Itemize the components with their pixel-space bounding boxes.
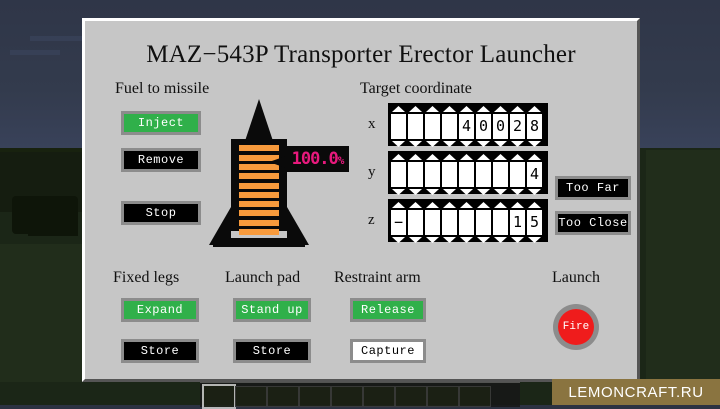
pad-store-button[interactable]: Store	[233, 339, 311, 363]
fuel-percent-symbol: %	[338, 154, 344, 167]
chevron-up-icon[interactable]	[392, 202, 405, 208]
chevron-down-icon[interactable]	[426, 189, 439, 195]
hotbar-slot[interactable]	[427, 386, 459, 407]
chevron-up-icon[interactable]	[511, 154, 524, 160]
chevron-down-icon[interactable]	[528, 141, 541, 147]
coord-digit-column: 0	[476, 106, 491, 147]
coord-digit-box[interactable]	[459, 162, 474, 187]
coord-axis-label-z: z	[368, 212, 375, 229]
coord-digit-box[interactable]	[425, 114, 440, 139]
fuel-segment	[239, 173, 279, 179]
fuel-segment	[239, 183, 279, 189]
restraint-arm-section-label: Restraint arm	[334, 269, 421, 287]
terrain-patch	[28, 222, 78, 236]
coord-digit-column	[442, 202, 457, 243]
chevron-down-icon[interactable]	[409, 189, 422, 195]
coord-row-z: −15	[388, 199, 548, 242]
coord-digit-column: 4	[459, 106, 474, 147]
chevron-up-icon[interactable]	[426, 106, 439, 112]
coord-digit-column	[425, 106, 440, 147]
coord-digit-box[interactable]	[459, 210, 474, 235]
chevron-down-icon[interactable]	[477, 189, 490, 195]
site-watermark: LEMONCRAFT.RU	[552, 379, 720, 405]
coord-digit-column	[476, 154, 491, 195]
hotbar-slot[interactable]	[363, 386, 395, 407]
chevron-up-icon[interactable]	[409, 202, 422, 208]
missile-nose	[245, 99, 273, 141]
hotbar-slot[interactable]	[202, 384, 236, 409]
chevron-up-icon[interactable]	[477, 154, 490, 160]
chevron-down-icon[interactable]	[443, 189, 456, 195]
chevron-down-icon[interactable]	[426, 141, 439, 147]
coord-digit-column: 8	[527, 106, 542, 147]
chevron-up-icon[interactable]	[511, 202, 524, 208]
coord-digit-column: 5	[527, 202, 542, 243]
chevron-down-icon[interactable]	[528, 237, 541, 243]
fuel-segment	[239, 220, 279, 226]
coord-row-y: 4	[388, 151, 548, 194]
coord-digit-box[interactable]	[476, 162, 491, 187]
chevron-down-icon[interactable]	[460, 237, 473, 243]
hotbar-slot[interactable]	[235, 386, 267, 407]
coord-digit-column	[408, 154, 423, 195]
chevron-up-icon[interactable]	[392, 106, 405, 112]
chevron-up-icon[interactable]	[443, 154, 456, 160]
chevron-down-icon[interactable]	[494, 141, 507, 147]
chevron-down-icon[interactable]	[494, 189, 507, 195]
coord-digit-box[interactable]	[476, 210, 491, 235]
legs-expand-button[interactable]: Expand	[121, 298, 199, 322]
coord-digit-column: 1	[510, 202, 525, 243]
target-section-label: Target coordinate	[360, 80, 472, 98]
chevron-up-icon[interactable]	[460, 202, 473, 208]
coord-digit-box[interactable]: 1	[510, 210, 525, 235]
coord-digit-box[interactable]	[493, 162, 508, 187]
coord-digit-box[interactable]	[493, 210, 508, 235]
launch-pad-section-label: Launch pad	[225, 269, 300, 287]
coord-axis-label-y: y	[368, 164, 376, 181]
coord-digit-box[interactable]: 4	[527, 162, 542, 187]
coord-digit-box[interactable]: 5	[527, 210, 542, 235]
fuel-section-label: Fuel to missile	[115, 80, 209, 98]
chevron-down-icon[interactable]	[426, 237, 439, 243]
coord-digit-box[interactable]	[442, 114, 457, 139]
chevron-down-icon[interactable]	[528, 189, 541, 195]
coord-digit-box[interactable]	[391, 114, 406, 139]
hotbar-slot[interactable]	[267, 386, 299, 407]
chevron-up-icon[interactable]	[494, 202, 507, 208]
coord-digit-column	[408, 202, 423, 243]
coord-digit-box[interactable]	[408, 162, 423, 187]
coord-digit-box[interactable]	[408, 210, 423, 235]
coord-digit-box[interactable]: −	[391, 210, 406, 235]
chevron-down-icon[interactable]	[460, 141, 473, 147]
coord-axis-label-x: x	[368, 116, 376, 133]
chevron-up-icon[interactable]	[528, 154, 541, 160]
chevron-down-icon[interactable]	[511, 189, 524, 195]
chevron-up-icon[interactable]	[409, 154, 422, 160]
pad-standup-button[interactable]: Stand up	[233, 298, 311, 322]
coord-digit-column	[442, 106, 457, 147]
chevron-down-icon[interactable]	[392, 237, 405, 243]
too-close-button[interactable]: Too Close	[555, 211, 631, 235]
chevron-up-icon[interactable]	[426, 154, 439, 160]
fuel-segment	[239, 229, 279, 235]
hotbar[interactable]	[200, 381, 520, 407]
coord-digit-box[interactable]: 0	[493, 114, 508, 139]
terrain-patch	[646, 150, 720, 380]
hotbar-slot[interactable]	[459, 386, 491, 407]
coord-digit-column: 4	[527, 154, 542, 195]
hotbar-slot[interactable]	[299, 386, 331, 407]
coord-digit-box[interactable]: 8	[527, 114, 542, 139]
fuel-segment	[239, 145, 279, 151]
coord-digit-box[interactable]	[425, 210, 440, 235]
coord-digit-box[interactable]	[408, 114, 423, 139]
chevron-up-icon[interactable]	[443, 202, 456, 208]
coord-digit-box[interactable]	[442, 162, 457, 187]
hotbar-slot[interactable]	[331, 386, 363, 407]
coord-digit-column	[476, 202, 491, 243]
coord-digit-column	[493, 202, 508, 243]
chevron-up-icon[interactable]	[409, 106, 422, 112]
missile-base	[213, 238, 305, 247]
chevron-up-icon[interactable]	[528, 106, 541, 112]
chevron-down-icon[interactable]	[409, 141, 422, 147]
coord-digit-column	[425, 202, 440, 243]
coord-digit-box[interactable]	[442, 210, 457, 235]
coord-row-x: 40028	[388, 103, 548, 146]
chevron-down-icon[interactable]	[392, 141, 405, 147]
coord-digit-box[interactable]	[425, 162, 440, 187]
chevron-down-icon[interactable]	[511, 237, 524, 243]
coord-digit-box[interactable]: 2	[510, 114, 525, 139]
coord-digit-column: 2	[510, 106, 525, 147]
coord-digit-column	[391, 106, 406, 147]
fuel-inject-button[interactable]: Inject	[121, 111, 201, 135]
page-title: MAZ−543P Transporter Erector Launcher	[85, 41, 637, 69]
chevron-down-icon[interactable]	[477, 141, 490, 147]
chevron-up-icon[interactable]	[426, 202, 439, 208]
chevron-up-icon[interactable]	[392, 154, 405, 160]
launch-section-label: Launch	[552, 269, 600, 287]
legs-store-button[interactable]: Store	[121, 339, 199, 363]
chevron-up-icon[interactable]	[528, 202, 541, 208]
chevron-down-icon[interactable]	[409, 237, 422, 243]
fuel-segment	[239, 192, 279, 198]
too-far-button[interactable]: Too Far	[555, 176, 631, 200]
coord-digit-column	[442, 154, 457, 195]
fuel-remove-button[interactable]: Remove	[121, 148, 201, 172]
chevron-up-icon[interactable]	[460, 106, 473, 112]
chevron-up-icon[interactable]	[477, 106, 490, 112]
coord-digit-column	[510, 154, 525, 195]
chevron-up-icon[interactable]	[494, 106, 507, 112]
fuel-readout-display: 100.0%	[286, 146, 349, 172]
terrain-patch	[0, 244, 82, 382]
fuel-stop-button[interactable]: Stop	[121, 201, 201, 225]
chevron-down-icon[interactable]	[511, 141, 524, 147]
chevron-up-icon[interactable]	[511, 106, 524, 112]
chevron-up-icon[interactable]	[494, 154, 507, 160]
coord-digit-box[interactable]	[510, 162, 525, 187]
chevron-up-icon[interactable]	[460, 154, 473, 160]
cloud	[10, 50, 60, 55]
coord-digit-column: −	[391, 202, 406, 243]
hotbar-slot[interactable]	[395, 386, 427, 407]
fuel-segment	[239, 201, 279, 207]
chevron-down-icon[interactable]	[460, 189, 473, 195]
coord-digit-column: 0	[493, 106, 508, 147]
coord-digit-column	[408, 106, 423, 147]
coord-digit-box[interactable]	[391, 162, 406, 187]
chevron-down-icon[interactable]	[392, 189, 405, 195]
coord-digit-box[interactable]: 4	[459, 114, 474, 139]
chevron-down-icon[interactable]	[494, 237, 507, 243]
restraint-release-button[interactable]: Release	[350, 298, 426, 322]
coord-digit-column	[459, 154, 474, 195]
chevron-down-icon[interactable]	[443, 141, 456, 147]
chevron-down-icon[interactable]	[477, 237, 490, 243]
fire-button[interactable]: Fire	[553, 304, 599, 350]
coord-digit-column	[425, 154, 440, 195]
coord-digit-column	[391, 154, 406, 195]
coord-digit-column	[493, 154, 508, 195]
missile-graphic	[209, 99, 309, 247]
fire-button-label: Fire	[558, 309, 594, 345]
fuel-percent-value: 100.0%	[292, 151, 344, 168]
launcher-gui-panel: MAZ−543P Transporter Erector Launcher Fu…	[82, 18, 640, 382]
fuel-segment	[239, 210, 279, 216]
chevron-up-icon[interactable]	[477, 202, 490, 208]
fixed-legs-section-label: Fixed legs	[113, 269, 179, 287]
restraint-capture-button[interactable]: Capture	[350, 339, 426, 363]
coord-digit-box[interactable]: 0	[476, 114, 491, 139]
chevron-up-icon[interactable]	[443, 106, 456, 112]
chevron-down-icon[interactable]	[443, 237, 456, 243]
coord-digit-column	[459, 202, 474, 243]
